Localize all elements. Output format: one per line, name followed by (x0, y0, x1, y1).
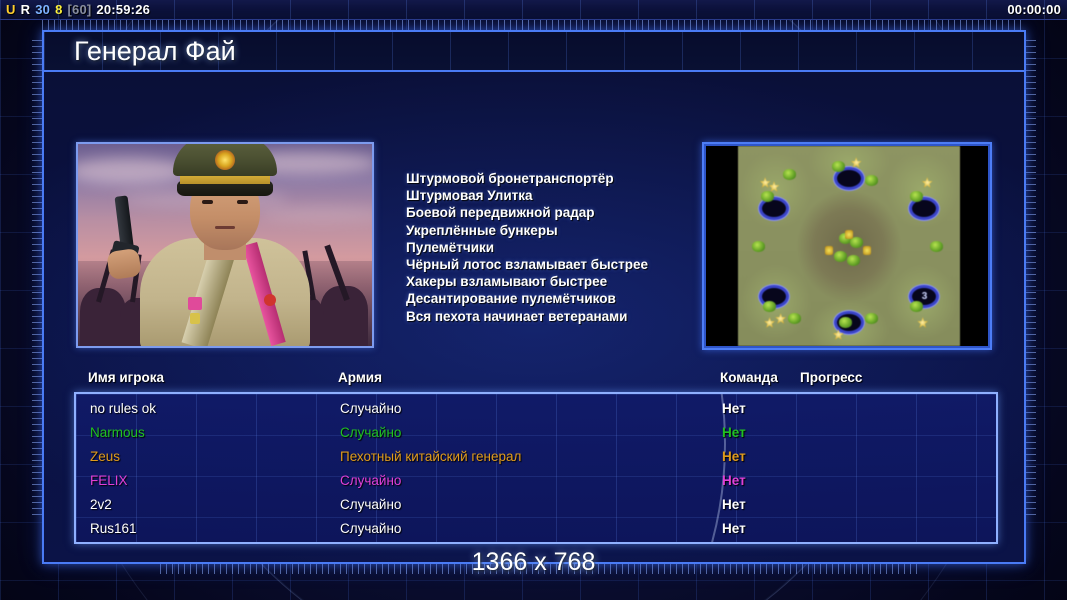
cell-army[interactable]: Случайно (340, 401, 401, 416)
minimap-tree (910, 191, 923, 202)
table-row[interactable]: no rules okСлучайноНет (76, 396, 996, 420)
ability-item: Боевой передвижной радар (406, 204, 706, 221)
portrait-medal (190, 313, 200, 324)
ability-item: Десантирование пулемётчиков (406, 290, 706, 307)
portrait-cap-badge (215, 150, 235, 170)
window-titlebar: Генерал Фай (44, 32, 1024, 72)
cell-progress (802, 404, 992, 413)
cell-player-name: FELIX (90, 473, 128, 488)
portrait-medal (188, 297, 202, 310)
minimap-tree (865, 175, 878, 186)
header-player-name: Имя игрока (88, 370, 164, 385)
minimap-tree (834, 251, 847, 262)
general-portrait-frame (76, 142, 374, 348)
ability-item: Вся пехота начинает ветеранами (406, 308, 706, 325)
minimap-unit (851, 157, 862, 168)
minimap-tree (910, 301, 923, 312)
ability-item: Хакеры взламывают быстрее (406, 273, 706, 290)
cell-progress (802, 500, 992, 509)
minimap-tree (788, 313, 801, 324)
cell-army[interactable]: Случайно (340, 497, 401, 512)
player-list-panel: no rules okСлучайноНетNarmousСлучайноНет… (74, 392, 998, 544)
minimap-tree (865, 313, 878, 324)
minimap-tree (761, 191, 774, 202)
minimap-tree (930, 241, 943, 252)
game-lobby-screen: UR 30 8 [60] 20:59:26 00:00:00 Генерал Ф… (0, 0, 1067, 600)
cell-player-name: Narmous (90, 425, 145, 440)
page-title: Генерал Фай (74, 36, 236, 67)
minimap-tree (839, 317, 852, 328)
portrait-hand (106, 248, 142, 280)
hud-elapsed-timer: 00:00:00 (1007, 2, 1061, 17)
resolution-caption: 1366 x 768 (0, 548, 1067, 577)
minimap-inner[interactable]: 3 (704, 144, 990, 348)
ruler-right (1026, 40, 1036, 520)
minimap-start-position[interactable] (912, 200, 936, 217)
ability-item: Штурмовой бронетранспортёр (406, 170, 706, 187)
cell-progress (802, 428, 992, 437)
minimap-supply (863, 246, 871, 255)
minimap-terrain: 3 (738, 146, 960, 346)
ability-item: Чёрный лотос взламывает быстрее (406, 256, 706, 273)
minimap-unit (917, 317, 928, 328)
header-progress: Прогресс (800, 370, 862, 385)
hud-prefix-r: R (21, 2, 31, 17)
ability-item: Пулемётчики (406, 239, 706, 256)
cell-player-name: no rules ok (90, 401, 156, 416)
ruler-top (42, 20, 1026, 30)
minimap-tree (763, 301, 776, 312)
cell-progress (802, 452, 992, 461)
minimap-start-position[interactable] (837, 170, 861, 187)
table-row[interactable]: FELIXСлучайноНет (76, 468, 996, 492)
cell-team[interactable]: Нет (722, 473, 746, 488)
minimap-unit (775, 313, 786, 324)
ability-item: Укреплённые бункеры (406, 222, 706, 239)
lobby-window: Генерал Фай (42, 30, 1026, 564)
portrait-medal (264, 294, 276, 306)
player-rows: no rules okСлучайноНетNarmousСлучайноНет… (76, 394, 996, 540)
minimap-unit (760, 177, 771, 188)
content-row: Штурмовой бронетранспортёр Штурмовая Ули… (44, 74, 1024, 364)
table-row[interactable]: NarmousСлучайноНет (76, 420, 996, 444)
minimap-supply (825, 246, 833, 255)
portrait-eye (237, 200, 248, 204)
cell-player-name: 2v2 (90, 497, 112, 512)
hud-clock: 20:59:26 (96, 2, 150, 17)
general-portrait-image (78, 144, 372, 346)
table-row[interactable]: ZeusПехотный китайский генералНет (76, 444, 996, 468)
cell-army[interactable]: Случайно (340, 473, 401, 488)
cell-team[interactable]: Нет (722, 425, 746, 440)
cell-team[interactable]: Нет (722, 521, 746, 536)
cell-team[interactable]: Нет (722, 401, 746, 416)
minimap-frame[interactable]: 3 (702, 142, 992, 350)
cell-team[interactable]: Нет (722, 449, 746, 464)
minimap-tree (847, 255, 860, 266)
minimap-unit (764, 317, 775, 328)
minimap-start-position[interactable] (762, 200, 786, 217)
hud-bar: UR 30 8 [60] 20:59:26 00:00:00 (0, 0, 1067, 20)
minimap-tree (783, 169, 796, 180)
cell-army[interactable]: Случайно (340, 425, 401, 440)
hud-bracket: [60] (68, 2, 92, 17)
header-team: Команда (720, 370, 778, 385)
cell-progress (802, 524, 992, 533)
hud-left-group: UR 30 8 [60] 20:59:26 (6, 2, 150, 17)
minimap-unit (922, 177, 933, 188)
cell-player-name: Zeus (90, 449, 120, 464)
hud-value-ping: 8 (55, 2, 62, 17)
table-row[interactable]: Rus161СлучайноНет (76, 516, 996, 540)
cell-team[interactable]: Нет (722, 497, 746, 512)
minimap-unit (833, 329, 844, 340)
ruler-left (32, 40, 42, 520)
minimap-tree (752, 241, 765, 252)
minimap-tree (832, 161, 845, 172)
portrait-mouth (215, 226, 235, 229)
player-table-headers: Имя игрока Армия Команда Прогресс (44, 370, 1024, 392)
hud-value-fps: 30 (35, 2, 50, 17)
cell-army[interactable]: Случайно (340, 521, 401, 536)
table-row[interactable]: 2v2СлучайноНет (76, 492, 996, 516)
minimap-supply (845, 230, 853, 239)
cell-player-name: Rus161 (90, 521, 137, 536)
general-abilities-list: Штурмовой бронетранспортёр Штурмовая Ули… (406, 170, 706, 325)
ability-item: Штурмовая Улитка (406, 187, 706, 204)
cell-army[interactable]: Пехотный китайский генерал (340, 449, 521, 464)
cell-progress (802, 476, 992, 485)
header-army: Армия (338, 370, 382, 385)
portrait-eye (202, 200, 213, 204)
hud-prefix-u: U (6, 2, 16, 17)
